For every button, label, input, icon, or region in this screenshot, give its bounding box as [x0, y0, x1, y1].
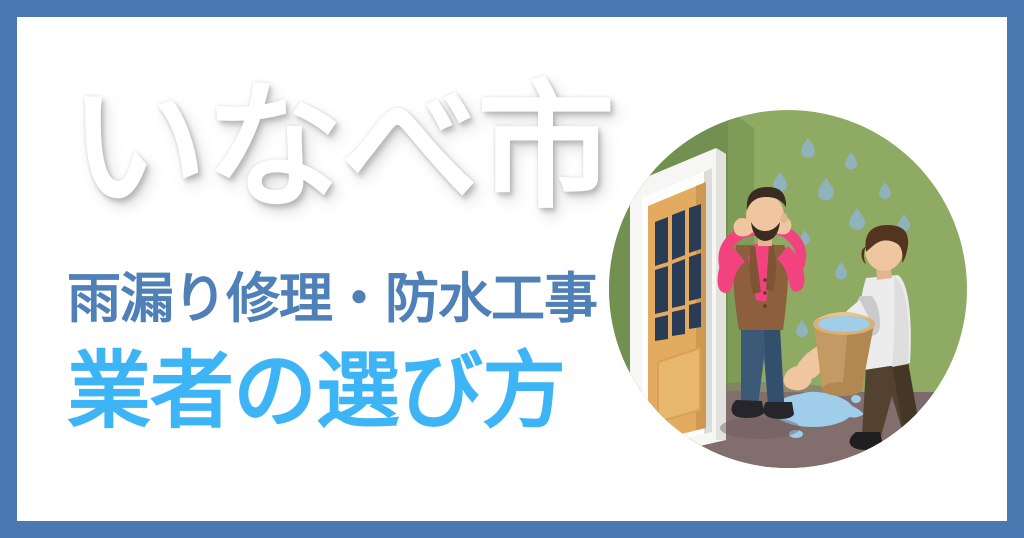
- banner-border-frame: いなべ市 雨漏り修理・防水工事 業者の選び方: [0, 0, 1024, 538]
- banner-canvas: いなべ市 雨漏り修理・防水工事 業者の選び方: [17, 17, 1007, 521]
- water-leak-illustration: [608, 110, 968, 468]
- page-title: いなべ市: [69, 79, 613, 217]
- banner-headline: 業者の選び方: [67, 349, 565, 433]
- banner-subtitle: 雨漏り修理・防水工事: [67, 272, 597, 326]
